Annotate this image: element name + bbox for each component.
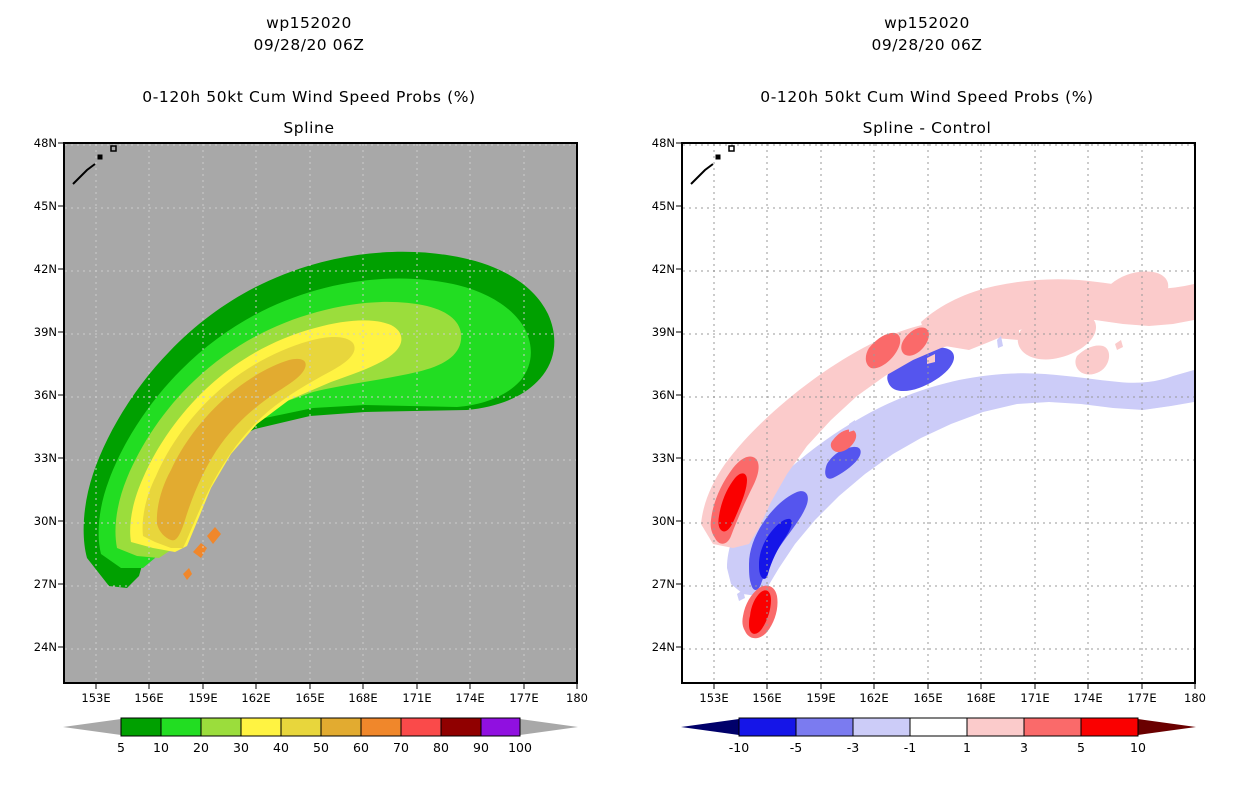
colorbar-swatch-90 [481,718,520,736]
colorbar-swatch-70 [401,718,441,736]
xlabel-180: 180 [1184,684,1206,705]
diff-speck-neg-a [849,420,855,432]
colorbar-tick-neg5: -5 [790,740,802,755]
diff-band-pos1-e [1075,345,1109,374]
colorbar-swatch-20 [201,718,241,736]
xlabel-174E: 174E [1073,684,1102,705]
xlabel-165E: 165E [913,684,942,705]
panel-right-colorbar: -10 -5 -3 -1 1 3 5 10 [681,716,1196,764]
colorbar-under-arrow-left [63,719,121,735]
ylabel-36N: 36N [652,388,681,402]
ylabel-42N: 42N [34,262,63,276]
ylabel-39N: 39N [34,325,63,339]
xlabel-159E: 159E [806,684,835,705]
panel-left-contour-plot [65,144,576,682]
colorbar-swatch-neg5 [796,718,853,736]
xlabel-174E: 174E [455,684,484,705]
colorbar-swatch-80 [441,718,481,736]
ylabel-39N: 39N [652,325,681,339]
panel-left-datetime: 09/28/20 06Z [0,36,618,54]
colorbar-tick-pos5: 5 [1077,740,1085,755]
xlabel-168E: 168E [966,684,995,705]
panel-left-storm-id: wp152020 [0,14,618,32]
panel-spline: wp152020 09/28/20 06Z 0-120h 50kt Cum Wi… [0,0,618,800]
panel-left-description: 0-120h 50kt Cum Wind Speed Probs (%) [0,88,618,106]
xlabel-156E: 156E [752,684,781,705]
ylabel-30N: 30N [652,514,681,528]
contour-band-60 [193,527,221,558]
panel-left-colorbar: 5 10 20 30 40 50 60 70 80 90 100 [63,716,578,764]
panel-left-subtitle: Spline [0,119,618,137]
colorbar-tick-neg3: -3 [847,740,859,755]
panel-right-datetime: 09/28/20 06Z [618,36,1236,54]
panel-right-colorbar-labels: -10 -5 -3 -1 1 3 5 10 [681,740,1196,762]
contour-band-60b [183,568,192,580]
colorbar-tick-30: 30 [233,740,249,755]
colorbar-swatch-60 [361,718,401,736]
xlabel-171E: 171E [402,684,431,705]
colorbar-tick-40: 40 [273,740,289,755]
colorbar-tick-pos3: 3 [1020,740,1028,755]
colorbar-swatch-10 [161,718,201,736]
colorbar-over-arrow-right [1138,719,1196,735]
xlabel-165E: 165E [295,684,324,705]
ylabel-36N: 36N [34,388,63,402]
diff-speck-pos-b [1115,340,1123,350]
colorbar-swatch-pos3 [1024,718,1081,736]
coastline-icon [73,146,116,184]
colorbar-tick-100: 100 [508,740,532,755]
colorbar-swatch-5 [121,718,161,736]
colorbar-tick-neg10: -10 [729,740,749,755]
colorbar-tick-pos1: 1 [963,740,971,755]
panel-right-storm-id: wp152020 [618,14,1236,32]
colorbar-swatch-pos1 [967,718,1024,736]
ylabel-27N: 27N [34,577,63,591]
xlabel-159E: 159E [188,684,217,705]
panel-left-map-frame [63,142,578,684]
xlabel-177E: 177E [509,684,538,705]
colorbar-tick-70: 70 [393,740,409,755]
ylabel-45N: 45N [34,199,63,213]
colorbar-tick-10: 10 [153,740,169,755]
ylabel-30N: 30N [34,514,63,528]
colorbar-swatch-50 [321,718,361,736]
colorbar-tick-20: 20 [193,740,209,755]
colorbar-swatch-neg3 [853,718,910,736]
panel-right-difference-plot [683,144,1194,682]
xlabel-168E: 168E [348,684,377,705]
ylabel-24N: 24N [652,640,681,654]
colorbar-tick-pos10: 10 [1130,740,1146,755]
xlabel-162E: 162E [859,684,888,705]
colorbar-under-arrow-right [681,719,739,735]
ylabel-48N: 48N [34,136,63,150]
panel-right-map-frame [681,142,1196,684]
colorbar-swatch-neg10 [739,718,796,736]
ylabel-42N: 42N [652,262,681,276]
colorbar-tick-60: 60 [353,740,369,755]
colorbar-tick-80: 80 [433,740,449,755]
xlabel-180: 180 [566,684,588,705]
panel-left-colorbar-labels: 5 10 20 30 40 50 60 70 80 90 100 [63,740,578,762]
colorbar-tick-neg1: -1 [904,740,916,755]
xlabel-177E: 177E [1127,684,1156,705]
panel-right-subtitle: Spline - Control [618,119,1236,137]
colorbar-over-arrow-left [520,719,578,735]
colorbar-tick-90: 90 [473,740,489,755]
colorbar-swatch-pos5 [1081,718,1138,736]
panel-right-description: 0-120h 50kt Cum Wind Speed Probs (%) [618,88,1236,106]
colorbar-tick-50: 50 [313,740,329,755]
ylabel-27N: 27N [652,577,681,591]
panel-left-map-area: 48N 45N 42N 39N 36N 33N 30N 27N 24N 153E… [63,142,578,684]
ylabel-48N: 48N [652,136,681,150]
ylabel-45N: 45N [652,199,681,213]
panel-right-map-area: 48N 45N 42N 39N 36N 33N 30N 27N 24N 153E… [681,142,1196,684]
xlabel-162E: 162E [241,684,270,705]
colorbar-swatch-40 [281,718,321,736]
colorbar-swatch-neg1 [910,718,967,736]
ylabel-33N: 33N [34,451,63,465]
panel-spline-minus-control: wp152020 09/28/20 06Z 0-120h 50kt Cum Wi… [618,0,1236,800]
colorbar-tick-5: 5 [117,740,125,755]
xlabel-153E: 153E [699,684,728,705]
coastline-icon [691,146,734,184]
xlabel-153E: 153E [81,684,110,705]
colorbar-swatch-30 [241,718,281,736]
xlabel-156E: 156E [134,684,163,705]
ylabel-24N: 24N [34,640,63,654]
xlabel-171E: 171E [1020,684,1049,705]
ylabel-33N: 33N [652,451,681,465]
